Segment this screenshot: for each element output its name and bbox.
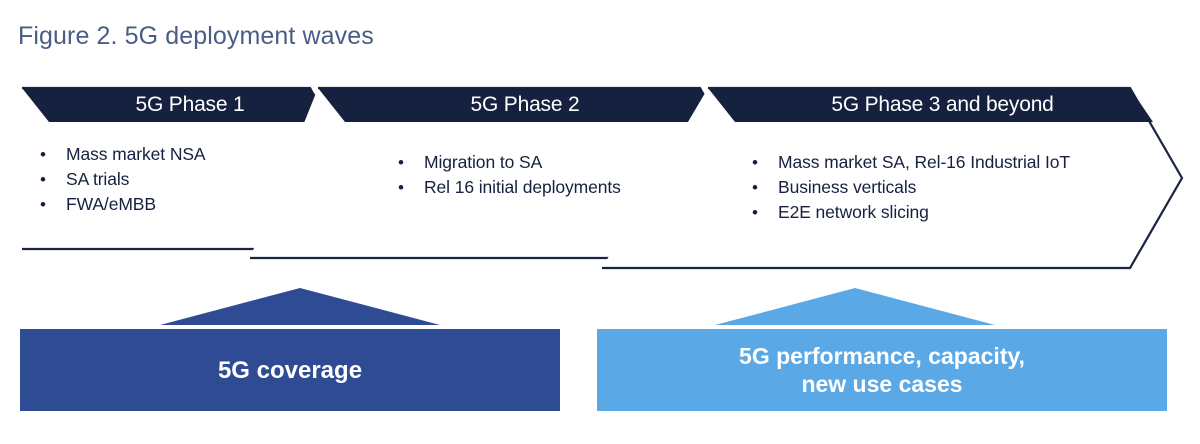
list-item: •Rel 16 initial deployments [398, 175, 621, 200]
performance-bar-label-line2: new use cases [597, 370, 1167, 398]
list-item-label: Business verticals [778, 177, 916, 197]
list-item: •Mass market NSA [40, 142, 206, 167]
performance-bar-label-line1: 5G performance, capacity, [597, 342, 1167, 370]
bullet-point-icon: • [40, 142, 66, 167]
list-item: •SA trials [40, 167, 206, 192]
list-item-label: Mass market NSA [66, 144, 206, 164]
list-item-label: SA trials [66, 169, 129, 189]
list-item: •Migration to SA [398, 150, 621, 175]
phase-2-title: 5G Phase 2 [345, 93, 705, 117]
phase-3-bullet-list: •Mass market SA, Rel-16 Industrial IoT •… [752, 150, 1070, 225]
bullet-point-icon: • [398, 150, 424, 175]
phase-1-bullet-list: •Mass market NSA •SA trials •FWA/eMBB [40, 142, 206, 217]
coverage-arrow-triangle [160, 288, 440, 325]
list-item-label: Migration to SA [424, 152, 542, 172]
bullet-point-icon: • [752, 150, 778, 175]
coverage-bar-label: 5G coverage [20, 357, 560, 385]
phase-1-title: 5G Phase 1 [40, 93, 340, 117]
phase-3-title: 5G Phase 3 and beyond [740, 93, 1145, 117]
list-item: •FWA/eMBB [40, 192, 206, 217]
list-item-label: Rel 16 initial deployments [424, 177, 621, 197]
bullet-point-icon: • [398, 175, 424, 200]
phase-2-bullet-list: •Migration to SA •Rel 16 initial deploym… [398, 150, 621, 200]
list-item-label: Mass market SA, Rel-16 Industrial IoT [778, 152, 1070, 172]
list-item: •Business verticals [752, 175, 1070, 200]
figure-container: Figure 2. 5G deployment waves 5G Phase 1… [0, 0, 1200, 444]
performance-bar-label: 5G performance, capacity, new use cases [597, 342, 1167, 398]
list-item: •E2E network slicing [752, 200, 1070, 225]
bullet-point-icon: • [40, 167, 66, 192]
list-item-label: FWA/eMBB [66, 194, 156, 214]
performance-arrow-triangle [715, 288, 995, 325]
list-item: •Mass market SA, Rel-16 Industrial IoT [752, 150, 1070, 175]
bullet-point-icon: • [40, 192, 66, 217]
bullet-point-icon: • [752, 175, 778, 200]
list-item-label: E2E network slicing [778, 202, 929, 222]
bullet-point-icon: • [752, 200, 778, 225]
